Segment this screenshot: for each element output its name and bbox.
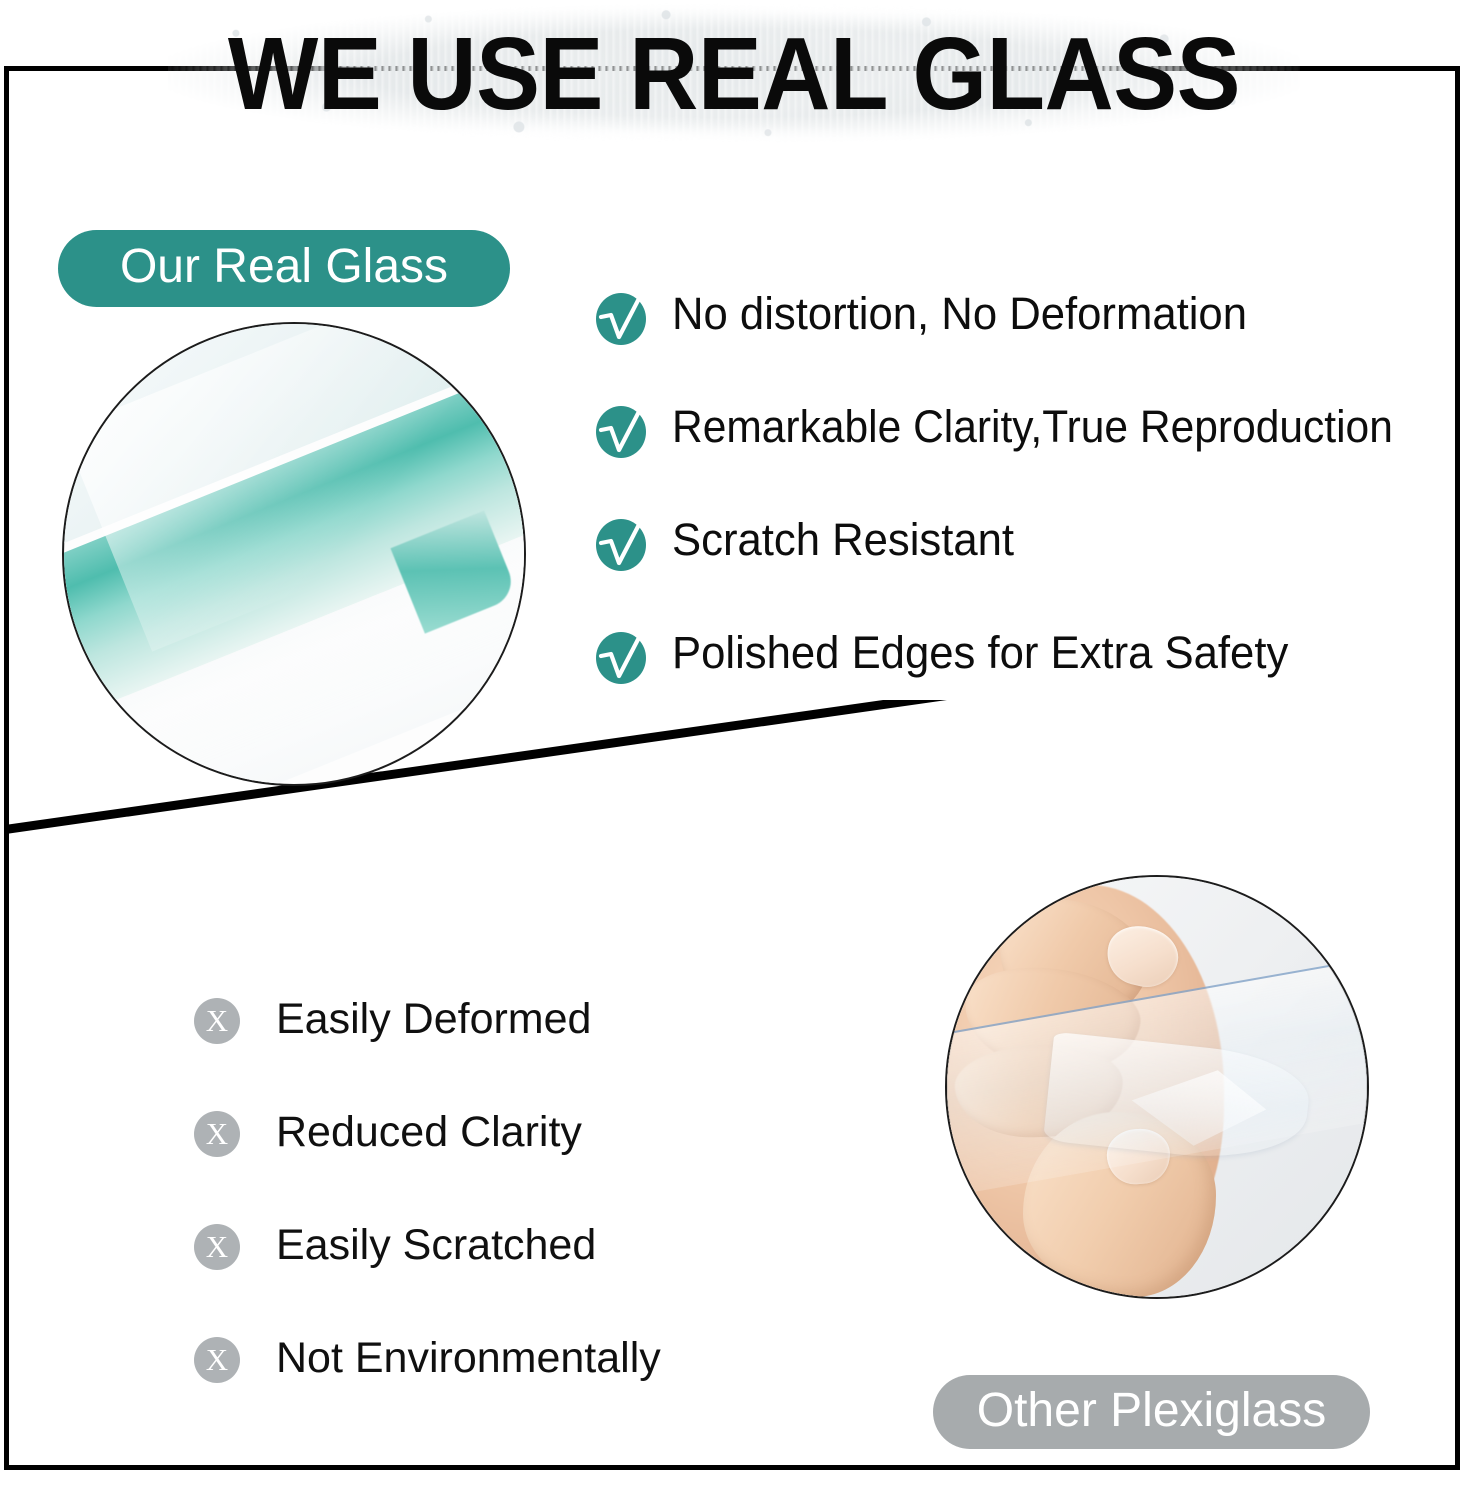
pros-list: No distortion, No Deformation Remarkable… — [596, 286, 1466, 738]
x-circle-icon: X — [194, 998, 240, 1044]
list-item: No distortion, No Deformation — [596, 286, 1466, 399]
list-item-label: Polished Edges for Extra Safety — [672, 625, 1288, 681]
list-item-label: No distortion, No Deformation — [672, 286, 1247, 342]
list-item-label: Not Environmentally — [276, 1330, 661, 1386]
x-circle-icon-glyph: X — [206, 1118, 228, 1149]
list-item: Polished Edges for Extra Safety — [596, 625, 1466, 738]
check-circle-icon — [596, 290, 646, 345]
x-circle-icon-glyph: X — [206, 1344, 228, 1375]
badge-our-real-glass: Our Real Glass — [58, 230, 510, 307]
list-item: Remarkable Clarity,True Reproduction — [596, 399, 1466, 512]
list-item: Scratch Resistant — [596, 512, 1466, 625]
list-item: X Reduced Clarity — [194, 1109, 814, 1222]
x-circle-icon-glyph: X — [206, 1005, 228, 1036]
title-band: WE USE REAL GLASS — [168, 2, 1300, 144]
x-circle-icon: X — [194, 1111, 240, 1157]
list-item: X Easily Deformed — [194, 996, 814, 1109]
badge-our-real-glass-label: Our Real Glass — [120, 243, 448, 291]
check-circle-icon — [596, 629, 646, 684]
list-item-label: Scratch Resistant — [672, 512, 1014, 568]
photo-real-glass — [62, 322, 526, 786]
check-circle-icon — [596, 403, 646, 458]
list-item-label: Easily Deformed — [276, 991, 591, 1047]
check-circle-icon — [596, 516, 646, 571]
list-item-label: Remarkable Clarity,True Reproduction — [672, 399, 1393, 455]
x-circle-icon-glyph: X — [206, 1231, 228, 1262]
badge-other-plexiglass: Other Plexiglass — [933, 1375, 1370, 1449]
list-item-label: Easily Scratched — [276, 1217, 596, 1273]
x-circle-icon: X — [194, 1337, 240, 1383]
x-circle-icon: X — [194, 1224, 240, 1270]
badge-other-plexiglass-label: Other Plexiglass — [977, 1387, 1326, 1435]
list-item-label: Reduced Clarity — [276, 1104, 582, 1160]
page-title: WE USE REAL GLASS — [208, 2, 1261, 144]
list-item: X Not Environmentally — [194, 1335, 814, 1448]
infographic-page: WE USE REAL GLASS Our Real Glass No dist… — [0, 0, 1474, 1500]
list-item: X Easily Scratched — [194, 1222, 814, 1335]
cons-list: X Easily Deformed X Reduced Clarity X Ea… — [194, 996, 814, 1448]
photo-plexiglass — [945, 875, 1369, 1299]
